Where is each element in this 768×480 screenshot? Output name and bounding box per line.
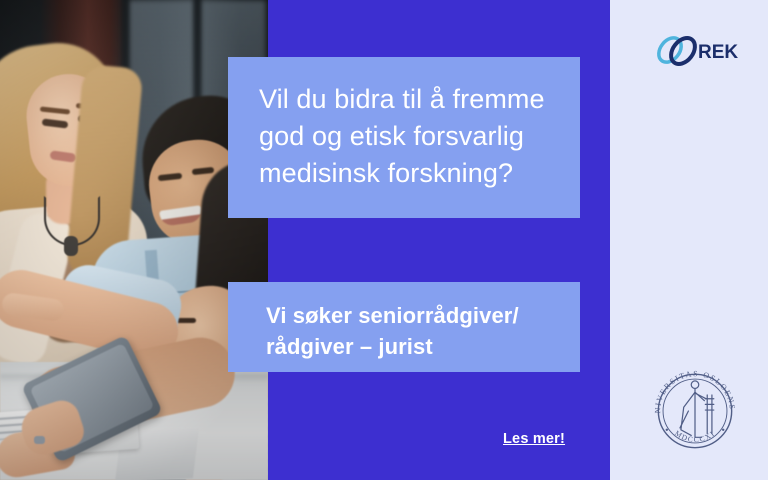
rek-interlocking-rings-icon bbox=[654, 33, 700, 68]
rek-logo-svg: REK bbox=[650, 28, 738, 72]
job-title-text: Vi søker seniorrådgiver/ rådgiver – juri… bbox=[266, 300, 556, 362]
uio-seal-svg: UNIVERSITAS OSLOENSIS MDCCCXI bbox=[648, 364, 742, 458]
job-advert-banner: Vil du bidra til å fremme god og etisk f… bbox=[0, 0, 768, 480]
headline-text: Vil du bidra til å fremme god og etisk f… bbox=[259, 81, 550, 192]
rek-logo: REK bbox=[650, 28, 738, 72]
seal-dot-right bbox=[722, 429, 724, 431]
uio-seal: UNIVERSITAS OSLOENSIS MDCCCXI bbox=[648, 364, 742, 458]
headline-box: Vil du bidra til å fremme god og etisk f… bbox=[228, 57, 580, 218]
seal-outer-text: UNIVERSITAS OSLOENSIS bbox=[648, 364, 737, 414]
seal-dot-left bbox=[666, 429, 668, 431]
rek-wordmark: REK bbox=[698, 42, 738, 63]
read-more-link[interactable]: Les mer! bbox=[503, 431, 565, 447]
seal-figure-with-lyre bbox=[680, 381, 714, 437]
job-title-box: Vi søker seniorrådgiver/ rådgiver – juri… bbox=[228, 282, 580, 372]
